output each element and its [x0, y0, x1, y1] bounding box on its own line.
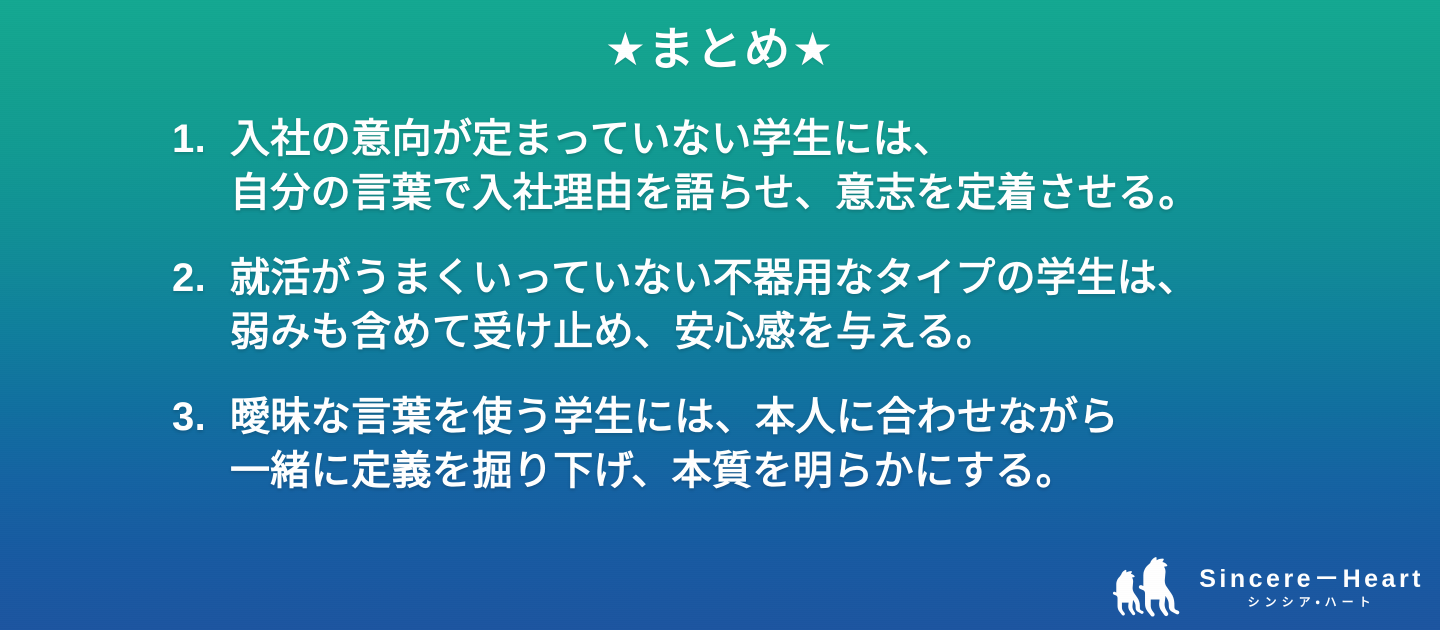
list-item: 1. 入社の意向が定まっていない学生には、 自分の言葉で入社理由を語らせ、意志を… — [172, 112, 1380, 221]
list-item-text: 曖昧な言葉を使う学生には、本人に合わせながら — [230, 390, 1119, 444]
list-item-line-secondary: 弱みも含めて受け止め、安心感を与える。 — [172, 305, 1380, 359]
list-item-line-secondary: 一緒に定義を掘り下げ、本質を明らかにする。 — [172, 444, 1380, 498]
brand-logo: Sincere－Heart シンシア・ハート — [1103, 556, 1424, 622]
list-item-line-secondary: 自分の言葉で入社理由を語らせ、意志を定着させる。 — [172, 166, 1380, 220]
page-title: ★まとめ★ — [0, 22, 1440, 77]
list-item-number: 2. — [172, 251, 230, 305]
brand-kana: シンシア・ハート — [1248, 596, 1376, 608]
list-item-text: 入社の意向が定まっていない学生には、 — [230, 112, 954, 166]
list-item-number: 3. — [172, 390, 230, 444]
list-item-line-primary: 2. 就活がうまくいっていない不器用なタイプの学生は、 — [172, 251, 1380, 305]
summary-list: 1. 入社の意向が定まっていない学生には、 自分の言葉で入社理由を語らせ、意志を… — [172, 112, 1380, 498]
list-item: 2. 就活がうまくいっていない不器用なタイプの学生は、 弱みも含めて受け止め、安… — [172, 251, 1380, 360]
list-item-text: 自分の言葉で入社理由を語らせ、意志を定着させる。 — [230, 166, 1199, 220]
list-item-text: 就活がうまくいっていない不器用なタイプの学生は、 — [230, 251, 1198, 305]
list-item-text: 一緒に定義を掘り下げ、本質を明らかにする。 — [230, 444, 1076, 498]
list-item-line-primary: 1. 入社の意向が定まっていない学生には、 — [172, 112, 1380, 166]
list-item-text: 弱みも含めて受け止め、安心感を与える。 — [230, 305, 996, 359]
brand-name: Sincere－Heart — [1199, 567, 1424, 592]
summary-slide: ★まとめ★ 1. 入社の意向が定まっていない学生には、 自分の言葉で入社理由を語… — [0, 0, 1440, 630]
two-dogs-icon — [1103, 556, 1185, 622]
list-item: 3. 曖昧な言葉を使う学生には、本人に合わせながら 一緒に定義を掘り下げ、本質を… — [172, 390, 1380, 499]
list-item-line-primary: 3. 曖昧な言葉を使う学生には、本人に合わせながら — [172, 390, 1380, 444]
list-item-number: 1. — [172, 112, 230, 166]
brand-text: Sincere－Heart シンシア・ハート — [1199, 567, 1424, 612]
